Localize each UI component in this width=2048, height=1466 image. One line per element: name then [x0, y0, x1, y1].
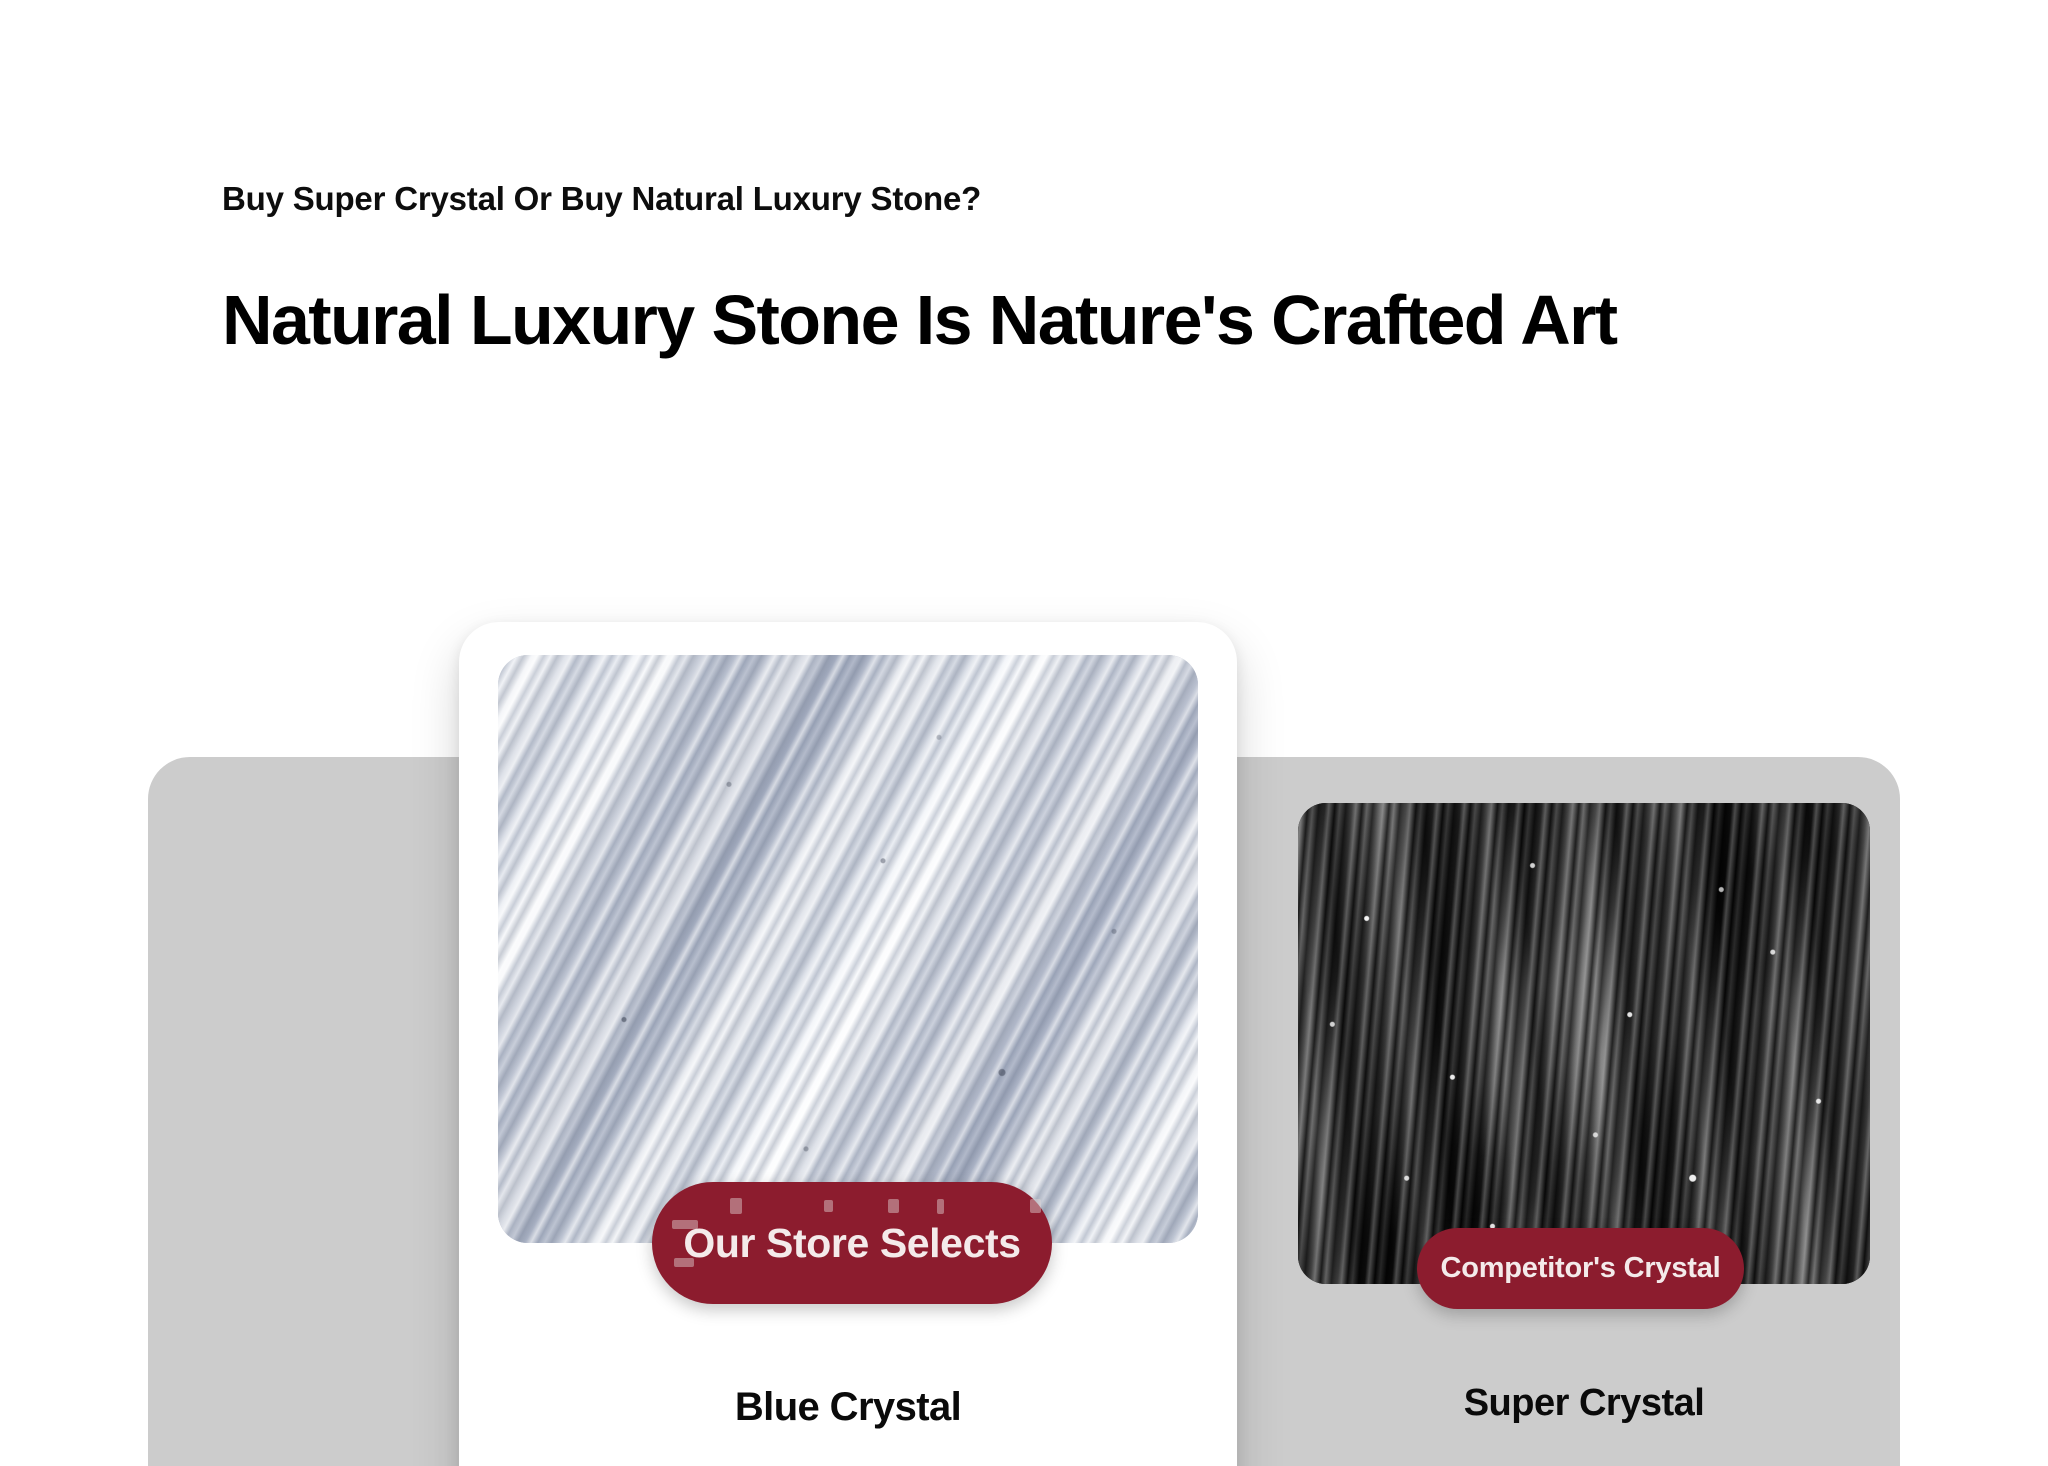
competitor-badge: Competitor's Crystal [1417, 1228, 1744, 1309]
featured-badge-label: Our Store Selects [683, 1220, 1020, 1267]
comparison-page: Buy Super Crystal Or Buy Natural Luxury … [0, 0, 2048, 1466]
competitor-product-card[interactable] [1298, 803, 1870, 1284]
featured-product-card[interactable] [459, 622, 1237, 1466]
dark-crystal-texture-icon [1298, 803, 1870, 1284]
blue-marble-texture-icon [498, 655, 1198, 1243]
featured-product-image [498, 655, 1198, 1243]
featured-badge: Our Store Selects [652, 1182, 1052, 1304]
comparison-cards: Our Store Selects Competitor's Crystal B… [0, 0, 2048, 1466]
featured-product-name: Blue Crystal [459, 1385, 1237, 1430]
competitor-product-name: Super Crystal [1298, 1382, 1870, 1425]
competitor-badge-label: Competitor's Crystal [1440, 1252, 1720, 1285]
